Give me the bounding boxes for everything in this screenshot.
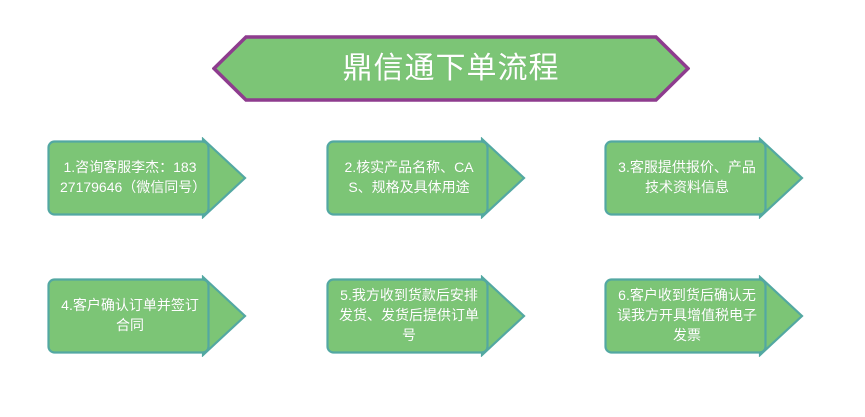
flow-diagram-canvas: 鼎信通下单流程 1.咨询客服李杰：18327179646（微信同号） 2.核实产… xyxy=(0,0,865,417)
step-1-label: 1.咨询客服李杰：18327179646（微信同号） xyxy=(57,141,203,215)
step-2-label: 2.核实产品名称、CAS、规格及具体用途 xyxy=(336,141,482,215)
step-1[interactable]: 1.咨询客服李杰：18327179646（微信同号） xyxy=(47,137,247,219)
step-3-label: 3.客服提供报价、产品技术资料信息 xyxy=(614,141,760,215)
step-6[interactable]: 6.客户收到货后确认无误我方开具增值税电子发票 xyxy=(604,275,804,357)
step-5[interactable]: 5.我方收到货款后安排发货、发货后提供订单号 xyxy=(326,275,526,357)
page-title: 鼎信通下单流程 xyxy=(212,35,690,102)
step-6-label: 6.客户收到货后确认无误我方开具增值税电子发票 xyxy=(614,279,760,353)
step-5-label: 5.我方收到货款后安排发货、发货后提供订单号 xyxy=(336,279,482,353)
step-4[interactable]: 4.客户确认订单并签订合同 xyxy=(47,275,247,357)
step-4-label: 4.客户确认订单并签订合同 xyxy=(57,279,203,353)
step-3[interactable]: 3.客服提供报价、产品技术资料信息 xyxy=(604,137,804,219)
step-2[interactable]: 2.核实产品名称、CAS、规格及具体用途 xyxy=(326,137,526,219)
diagram-title-banner: 鼎信通下单流程 xyxy=(212,35,690,102)
